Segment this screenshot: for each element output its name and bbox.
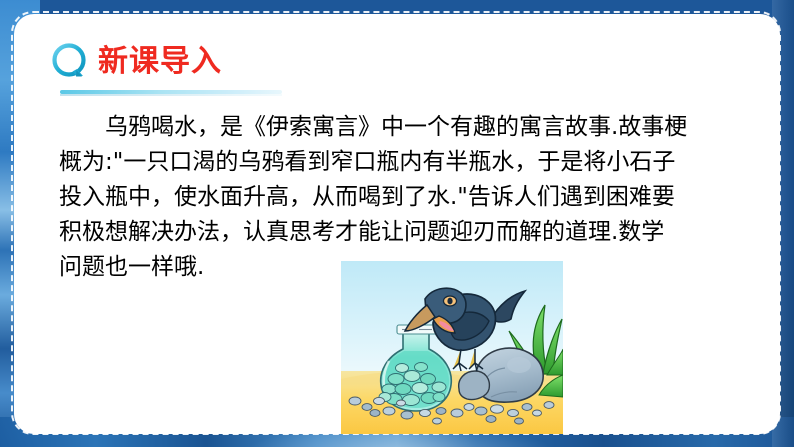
section-title-text: 新课导入 — [98, 47, 222, 77]
slide-content-panel: 新课导入 乌鸦喝水，是《伊索寓言》中一个有趣的寓言故事.故事梗 概为:"一只口渴… — [14, 14, 780, 434]
section-title: 新课导入 — [48, 40, 222, 84]
lesson-intro-text: 乌鸦喝水，是《伊索寓言》中一个有趣的寓言故事.故事梗 概为:"一只口渴的乌鸦看到… — [59, 110, 731, 285]
intro-line: 概为:"一只口渴的乌鸦看到窄口瓶内有半瓶水，于是将小石子 — [59, 145, 731, 180]
intro-line: 乌鸦喝水，是《伊索寓言》中一个有趣的寓言故事.故事梗 — [59, 110, 731, 145]
small-rock — [459, 371, 490, 400]
section-title-underline-shadow — [60, 94, 282, 96]
crow-drinking-water-illustration — [341, 261, 563, 434]
intro-line: 积极想解决办法，认真思考才能让问题迎刃而解的道理.数学 — [59, 215, 731, 250]
slide-root: 新课导入 乌鸦喝水，是《伊索寓言》中一个有趣的寓言故事.故事梗 概为:"一只口渴… — [0, 0, 794, 447]
intro-line: 投入瓶中，使水面升高，从而喝到了水."告诉人们遇到困难要 — [59, 180, 731, 215]
q-circle-icon — [48, 40, 92, 84]
